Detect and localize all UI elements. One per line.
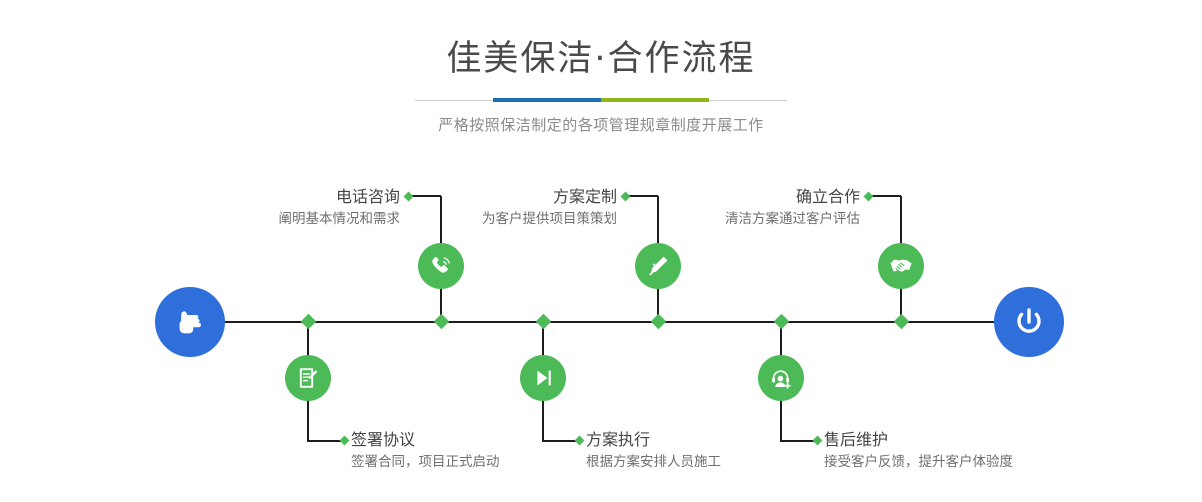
label-marker-2: [340, 436, 350, 446]
step-node-sign-agreement[interactable]: [285, 355, 331, 401]
axis-marker-2: [300, 314, 316, 330]
step-desc: 签署合同，项目正式启动: [351, 452, 611, 472]
step-label-plan-execute: 方案执行 根据方案安排人员施工: [586, 429, 846, 472]
step-title: 确立合作: [655, 186, 860, 207]
label-marker-3: [621, 191, 631, 201]
step-title: 方案执行: [586, 429, 846, 450]
axis-marker-3: [650, 314, 666, 330]
timeline-start-endpoint: [155, 287, 225, 357]
axis-marker-5: [893, 314, 909, 330]
play-start-icon: [529, 364, 557, 392]
phone-call-icon: [427, 252, 455, 280]
connector-horizontal-3: [627, 195, 658, 197]
pointing-hand-icon: [170, 302, 210, 342]
step-title: 签署协议: [351, 429, 611, 450]
step-desc: 为客户提供项目策策划: [412, 209, 617, 229]
axis-marker-6: [773, 314, 789, 330]
step-desc: 阐明基本情况和需求: [200, 209, 400, 229]
label-marker-5: [864, 191, 874, 201]
step-label-sign-agreement: 签署协议 签署合同，项目正式启动: [351, 429, 611, 472]
connector-horizontal-5: [870, 195, 901, 197]
timeline: 电话咨询 阐明基本情况和需求 签署协议 签署合同，项目正式启动: [0, 0, 1202, 502]
axis-marker-1: [433, 314, 449, 330]
cooperation-process-infographic: 佳美保洁·合作流程 严格按照保洁制定的各项管理规章制度开展工作: [0, 0, 1202, 502]
power-icon: [1009, 302, 1049, 342]
step-desc: 清洁方案通过客户评估: [655, 209, 860, 229]
timeline-end-endpoint: [994, 287, 1064, 357]
step-node-after-sales[interactable]: [758, 355, 804, 401]
step-label-plan-custom: 方案定制 为客户提供项目策策划: [412, 186, 617, 229]
customer-service-icon: [767, 364, 795, 392]
connector-horizontal-2: [307, 440, 343, 442]
step-desc: 根据方案安排人员施工: [586, 452, 846, 472]
step-label-phone-consult: 电话咨询 阐明基本情况和需求: [200, 186, 400, 229]
step-node-plan-custom[interactable]: [635, 243, 681, 289]
step-title: 电话咨询: [200, 186, 400, 207]
handshake-icon: [887, 252, 915, 280]
step-node-phone-consult[interactable]: [418, 243, 464, 289]
step-desc: 接受客户反馈，提升客户体验度: [824, 452, 1124, 472]
step-label-after-sales: 售后维护 接受客户反馈，提升客户体验度: [824, 429, 1124, 472]
pencil-edit-icon: [644, 252, 672, 280]
document-edit-icon: [294, 364, 322, 392]
step-title: 方案定制: [412, 186, 617, 207]
step-label-establish-cooperation: 确立合作 清洁方案通过客户评估: [655, 186, 860, 229]
step-node-plan-execute[interactable]: [520, 355, 566, 401]
step-node-establish-cooperation[interactable]: [878, 243, 924, 289]
step-title: 售后维护: [824, 429, 1124, 450]
axis-marker-4: [535, 314, 551, 330]
